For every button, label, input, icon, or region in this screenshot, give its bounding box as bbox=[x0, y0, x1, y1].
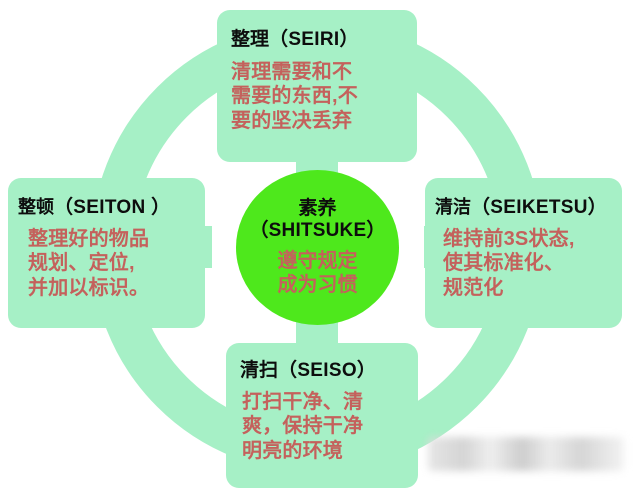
node-title-seiso: 清扫（SEISO） bbox=[240, 361, 418, 382]
diagram-canvas: 整理（SEIRI） 清理需要和不 需要的东西,不 要的坚决丢弃 整顿（SEITO… bbox=[0, 0, 634, 496]
node-title-cn-seiketsu: 清洁 bbox=[435, 197, 471, 217]
node-body-line: 要的坚决丢弃 bbox=[231, 109, 417, 133]
node-card-seiri[interactable]: 整理（SEIRI） 清理需要和不 需要的东西,不 要的坚决丢弃 bbox=[217, 10, 417, 162]
node-body-line: 维持前3S状态, bbox=[443, 227, 622, 251]
center-title: 素养 （SHITSUKE） bbox=[249, 198, 385, 243]
node-title-romaji-seiton: （SEITON ） bbox=[54, 197, 170, 218]
node-card-seiton[interactable]: 整顿（SEITON ） 整理好的物品 规划、定位, 并加以标识。 bbox=[8, 178, 205, 328]
node-title-seiri: 整理（SEIRI） bbox=[231, 30, 417, 51]
node-title-seiton: 整顿（SEITON ） bbox=[18, 198, 205, 219]
node-body-line: 使其标准化、 bbox=[443, 251, 622, 275]
node-card-seiso[interactable]: 清扫（SEISO） 打扫干净、清 爽，保持干净 明亮的环境 bbox=[226, 343, 418, 488]
node-body-line: 明亮的环境 bbox=[242, 439, 418, 463]
node-body-line: 整理好的物品 bbox=[28, 227, 205, 251]
watermark-blurred bbox=[428, 437, 624, 471]
node-body-line: 需要的东西,不 bbox=[231, 84, 417, 108]
node-title-seiketsu: 清洁（SEIKETSU） bbox=[435, 198, 622, 219]
node-title-cn-seiso: 清扫 bbox=[240, 360, 278, 381]
center-body-line: 遵守规定 bbox=[278, 249, 358, 273]
node-body-line: 规划、定位, bbox=[28, 251, 205, 275]
node-body-line: 清理需要和不 bbox=[231, 60, 417, 84]
node-card-seiketsu[interactable]: 清洁（SEIKETSU） 维持前3S状态, 使其标准化、 规范化 bbox=[425, 178, 622, 328]
node-title-cn-seiton: 整顿 bbox=[18, 197, 54, 217]
center-body-line: 成为习惯 bbox=[278, 273, 358, 297]
center-body: 遵守规定 成为习惯 bbox=[278, 249, 358, 297]
center-title-cn: 素养 bbox=[249, 198, 385, 220]
node-body-seiton: 整理好的物品 规划、定位, 并加以标识。 bbox=[28, 227, 205, 300]
center-node-shitsuke[interactable]: 素养 （SHITSUKE） 遵守规定 成为习惯 bbox=[236, 170, 399, 325]
center-title-romaji: （SHITSUKE） bbox=[249, 220, 385, 242]
node-body-line: 爽，保持干净 bbox=[242, 414, 418, 438]
node-body-seiso: 打扫干净、清 爽，保持干净 明亮的环境 bbox=[242, 390, 418, 463]
node-body-line: 打扫干净、清 bbox=[242, 390, 418, 414]
node-body-seiketsu: 维持前3S状态, 使其标准化、 规范化 bbox=[443, 227, 622, 300]
node-title-cn-seiri: 整理 bbox=[231, 29, 269, 50]
node-body-line: 规范化 bbox=[443, 276, 622, 300]
node-body-line: 并加以标识。 bbox=[28, 276, 205, 300]
node-body-seiri: 清理需要和不 需要的东西,不 要的坚决丢弃 bbox=[231, 60, 417, 133]
node-title-romaji-seiso: （SEISO） bbox=[278, 360, 376, 381]
node-title-romaji-seiketsu: （SEIKETSU） bbox=[471, 197, 607, 218]
node-title-romaji-seiri: （SEIRI） bbox=[269, 29, 359, 50]
